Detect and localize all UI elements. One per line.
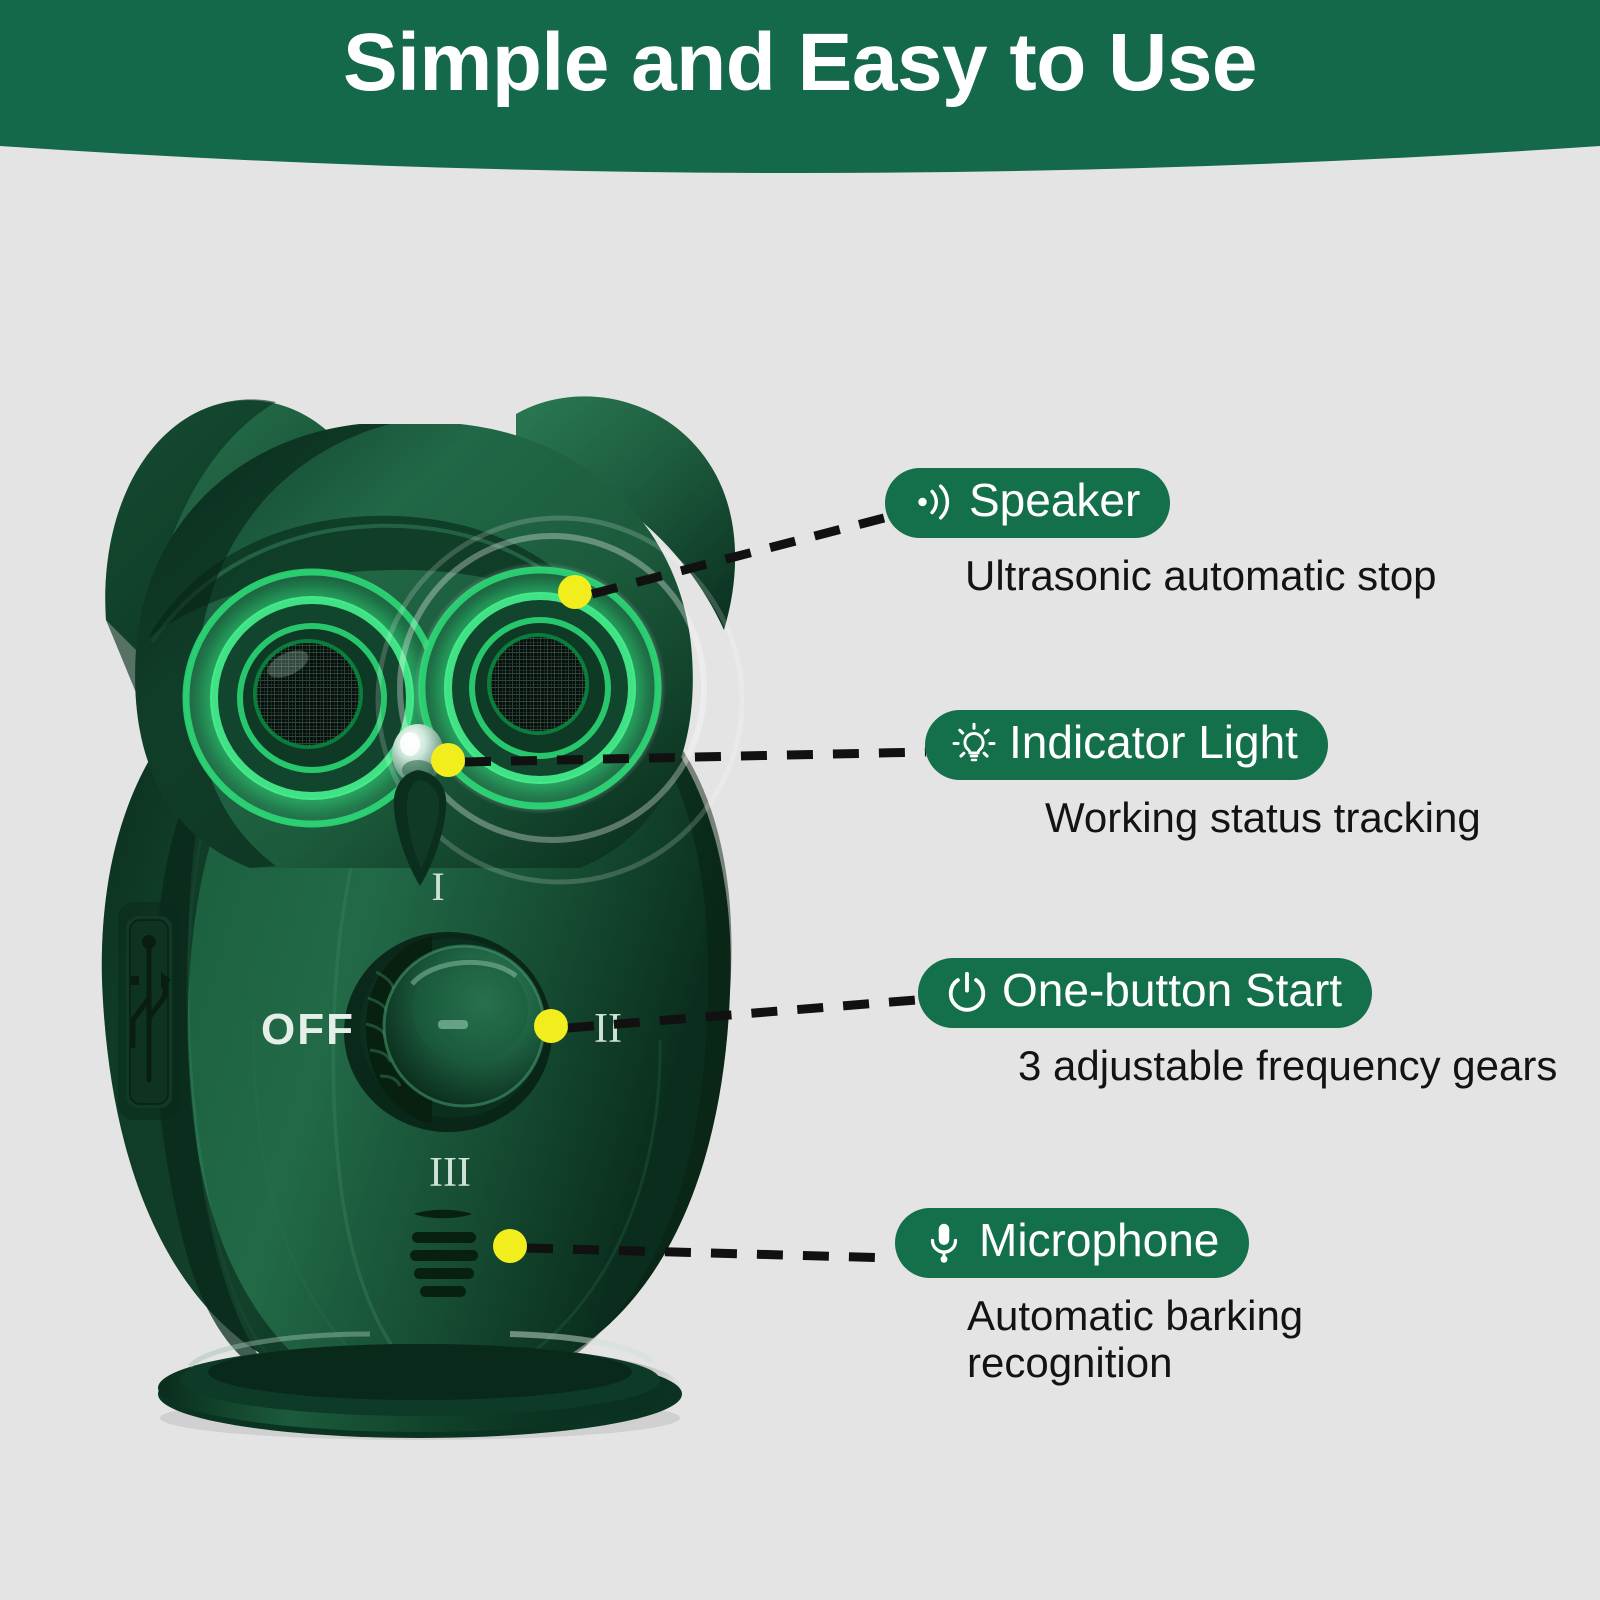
callout-microphone: Microphone Automatic barking recognition — [895, 1208, 1507, 1387]
pill-one-button-start[interactable]: One-button Start — [918, 958, 1372, 1028]
hotspot-microphone[interactable] — [493, 1229, 527, 1263]
lightbulb-icon — [951, 721, 997, 767]
pill-indicator-light[interactable]: Indicator Light — [925, 710, 1328, 780]
pill-speaker[interactable]: Speaker — [885, 468, 1170, 538]
usb-charging-port — [118, 902, 180, 1120]
pill-microphone[interactable]: Microphone — [895, 1208, 1249, 1278]
pill-label: One-button Start — [1002, 967, 1342, 1013]
owl-device-illustration: I OFF II III — [40, 320, 780, 1450]
pill-label: Indicator Light — [1009, 719, 1298, 765]
dial-label-III: III — [429, 1150, 471, 1196]
dial-label-I: I — [431, 864, 444, 909]
hotspot-speaker[interactable] — [558, 575, 592, 609]
callout-indicator-light: Indicator Light Working status tracking — [925, 710, 1481, 841]
callout-speaker: Speaker Ultrasonic automatic stop — [885, 468, 1437, 599]
hotspot-indicator[interactable] — [431, 743, 465, 777]
callout-description: Working status tracking — [1045, 794, 1481, 841]
speaker-wave-icon — [911, 479, 957, 525]
header-banner: Simple and Easy to Use — [0, 0, 1600, 200]
microphone-icon — [921, 1219, 967, 1265]
hotspot-power[interactable] — [534, 1009, 568, 1043]
callout-description: 3 adjustable frequency gears — [1018, 1042, 1557, 1089]
callout-description: Ultrasonic automatic stop — [965, 552, 1437, 599]
callout-description: Automatic barking recognition — [967, 1292, 1507, 1387]
power-icon — [944, 969, 990, 1015]
product-image-owl-device: I OFF II III — [40, 320, 780, 1450]
pill-label: Microphone — [979, 1217, 1219, 1263]
callout-one-button-start: One-button Start 3 adjustable frequency … — [918, 958, 1557, 1089]
page-title: Simple and Easy to Use — [0, 22, 1600, 104]
pill-label: Speaker — [969, 477, 1140, 523]
dial-label-II: II — [594, 1006, 622, 1052]
dial-label-off: OFF — [261, 1005, 355, 1054]
dial-pointer — [438, 1020, 468, 1029]
